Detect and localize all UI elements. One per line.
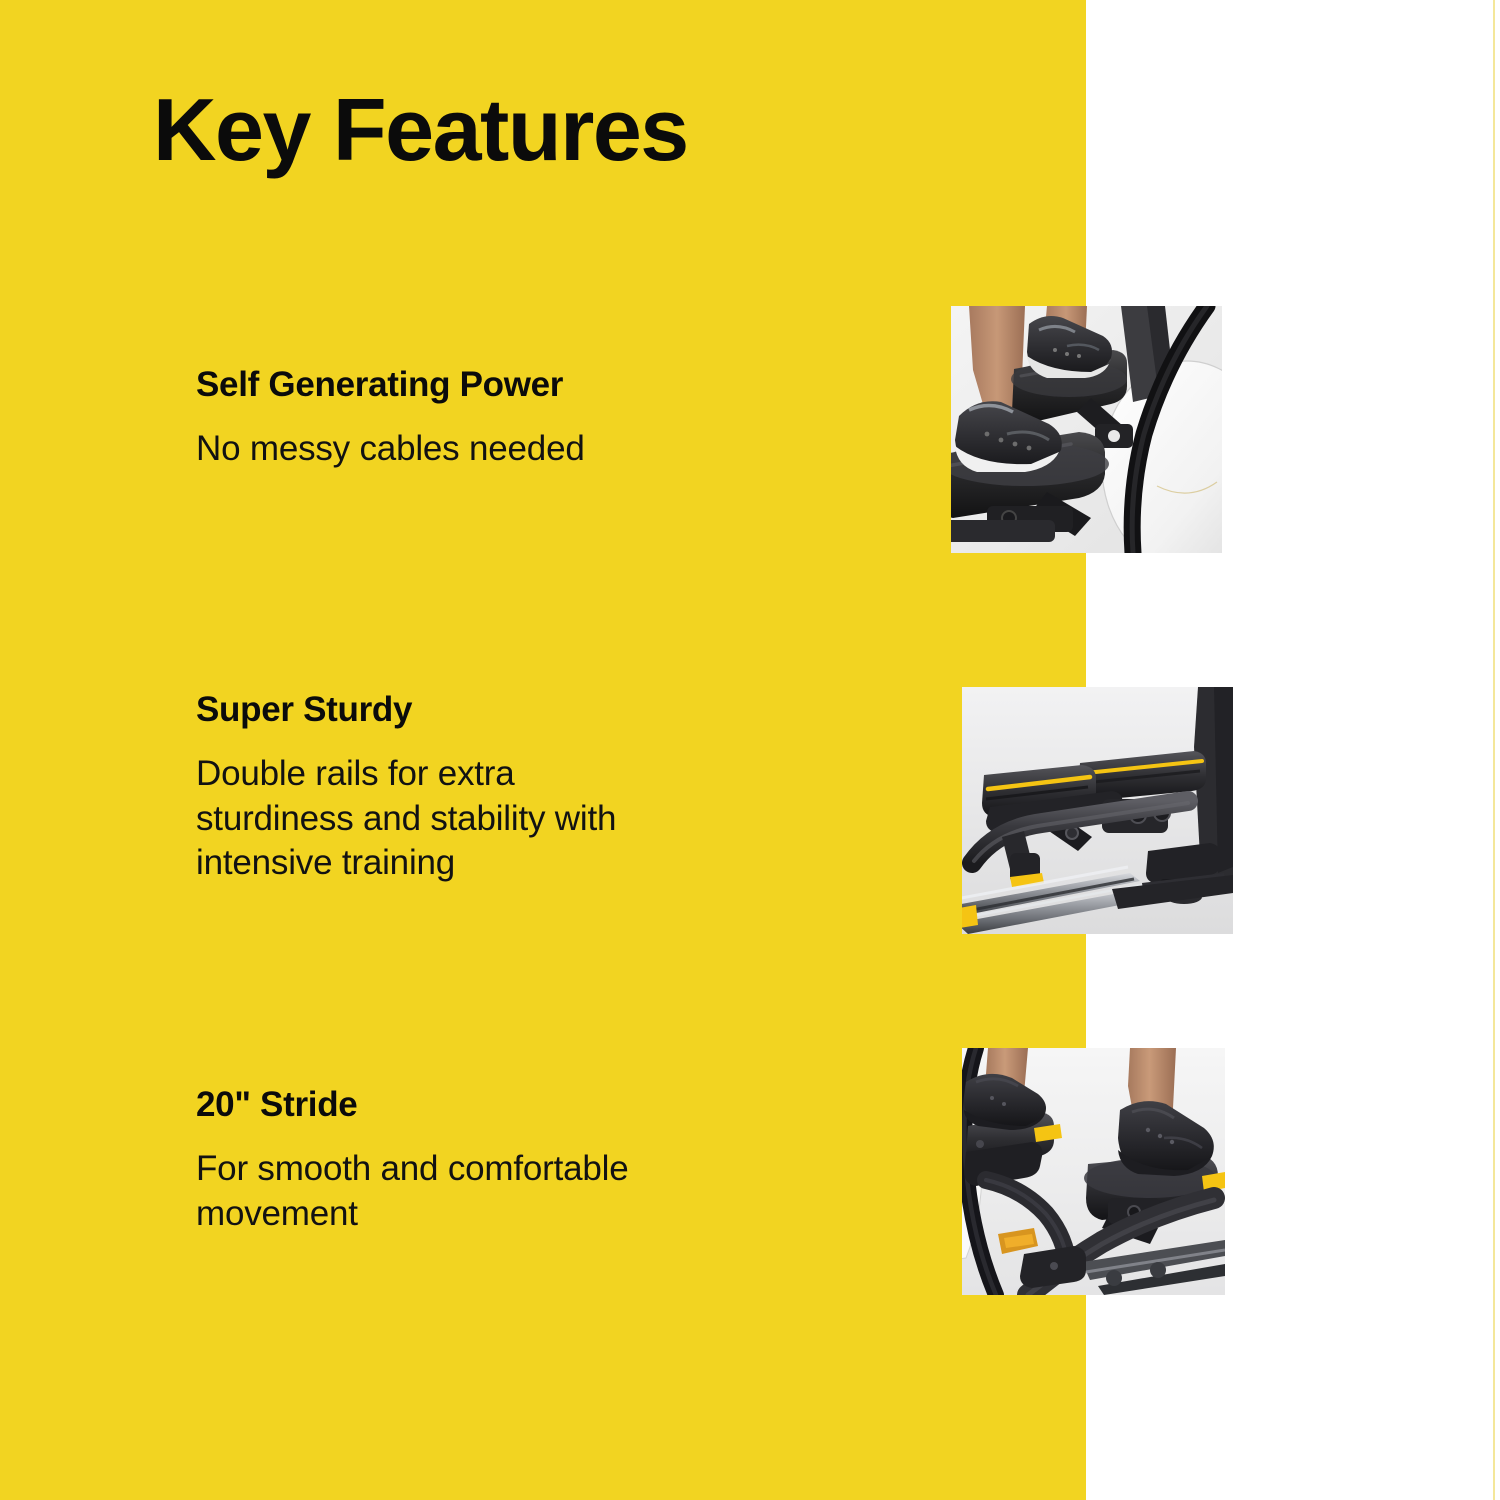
elliptical-pedals-photo: [951, 306, 1222, 553]
feature-block-20-inch-stride: 20" Stride For smooth and comfortable mo…: [196, 1085, 816, 1236]
feature-description: Double rails for extra sturdiness and st…: [196, 752, 666, 885]
feature-infographic: Key Features Self Generating Power No me…: [0, 0, 1500, 1500]
right-edge-rule: [1493, 0, 1495, 1500]
feature-title: Self Generating Power: [196, 365, 816, 405]
feature-block-self-generating-power: Self Generating Power No messy cables ne…: [196, 365, 816, 472]
feature-photo-self-generating-power: [951, 306, 1222, 553]
feature-description: No messy cables needed: [196, 427, 666, 471]
feature-photo-20-inch-stride: [962, 1048, 1225, 1295]
feature-description: For smooth and comfortable movement: [196, 1147, 666, 1236]
stride-photo: [962, 1048, 1225, 1295]
feature-title: Super Sturdy: [196, 690, 816, 730]
feature-block-super-sturdy: Super Sturdy Double rails for extra stur…: [196, 690, 816, 886]
feature-title: 20" Stride: [196, 1085, 816, 1125]
page-title: Key Features: [153, 84, 688, 176]
double-rail-frame-photo: [962, 687, 1233, 934]
feature-photo-super-sturdy: [962, 687, 1233, 934]
